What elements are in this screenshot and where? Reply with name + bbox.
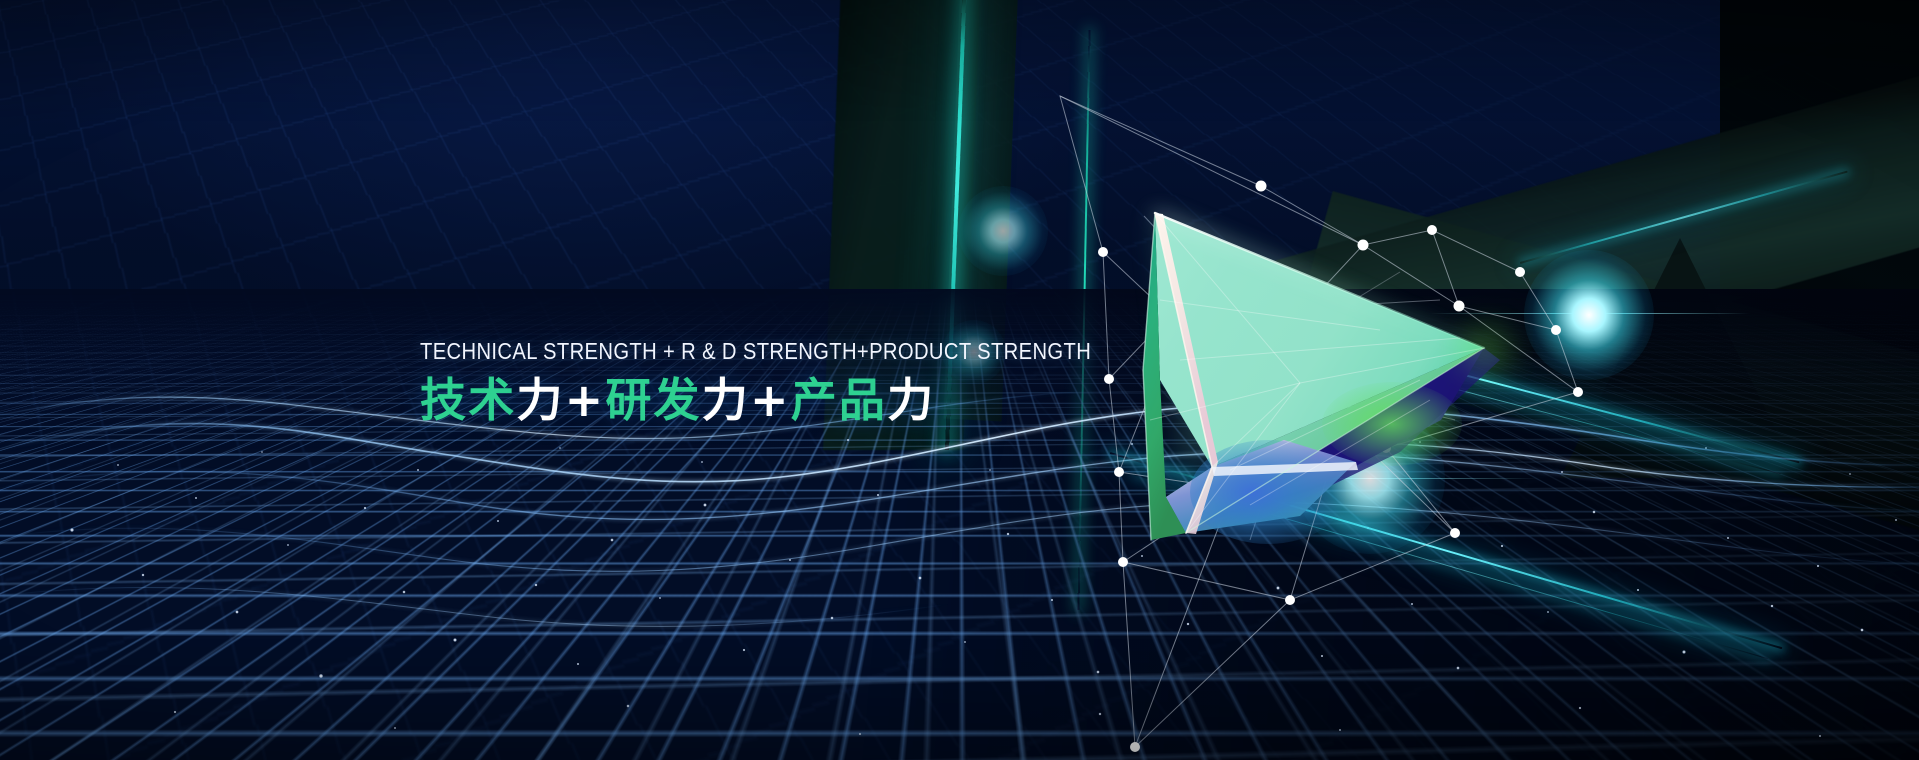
- headline-cn-seg-6: 产品: [791, 373, 887, 427]
- headline-cn-seg-3: 研发: [605, 373, 701, 427]
- headline-cn-seg-0: 技术: [420, 373, 516, 427]
- headline-cn-seg-2: +: [565, 373, 606, 427]
- headline-cn-seg-4: 力: [702, 373, 750, 427]
- hero-banner: TECHNICAL STRENGTH + R & D STRENGTH+PROD…: [0, 0, 1919, 760]
- headline-chinese: 技术力+研发力+产品力: [420, 376, 1140, 425]
- headline-cn-seg-1: 力: [516, 373, 564, 427]
- headline-english: TECHNICAL STRENGTH + R & D STRENGTH+PROD…: [420, 340, 1039, 364]
- headline-cn-seg-7: 力: [887, 373, 935, 427]
- headline-text-block: TECHNICAL STRENGTH + R & D STRENGTH+PROD…: [420, 340, 1140, 424]
- prism-green-glow: [1322, 382, 1462, 466]
- headline-cn-seg-5: +: [750, 373, 791, 427]
